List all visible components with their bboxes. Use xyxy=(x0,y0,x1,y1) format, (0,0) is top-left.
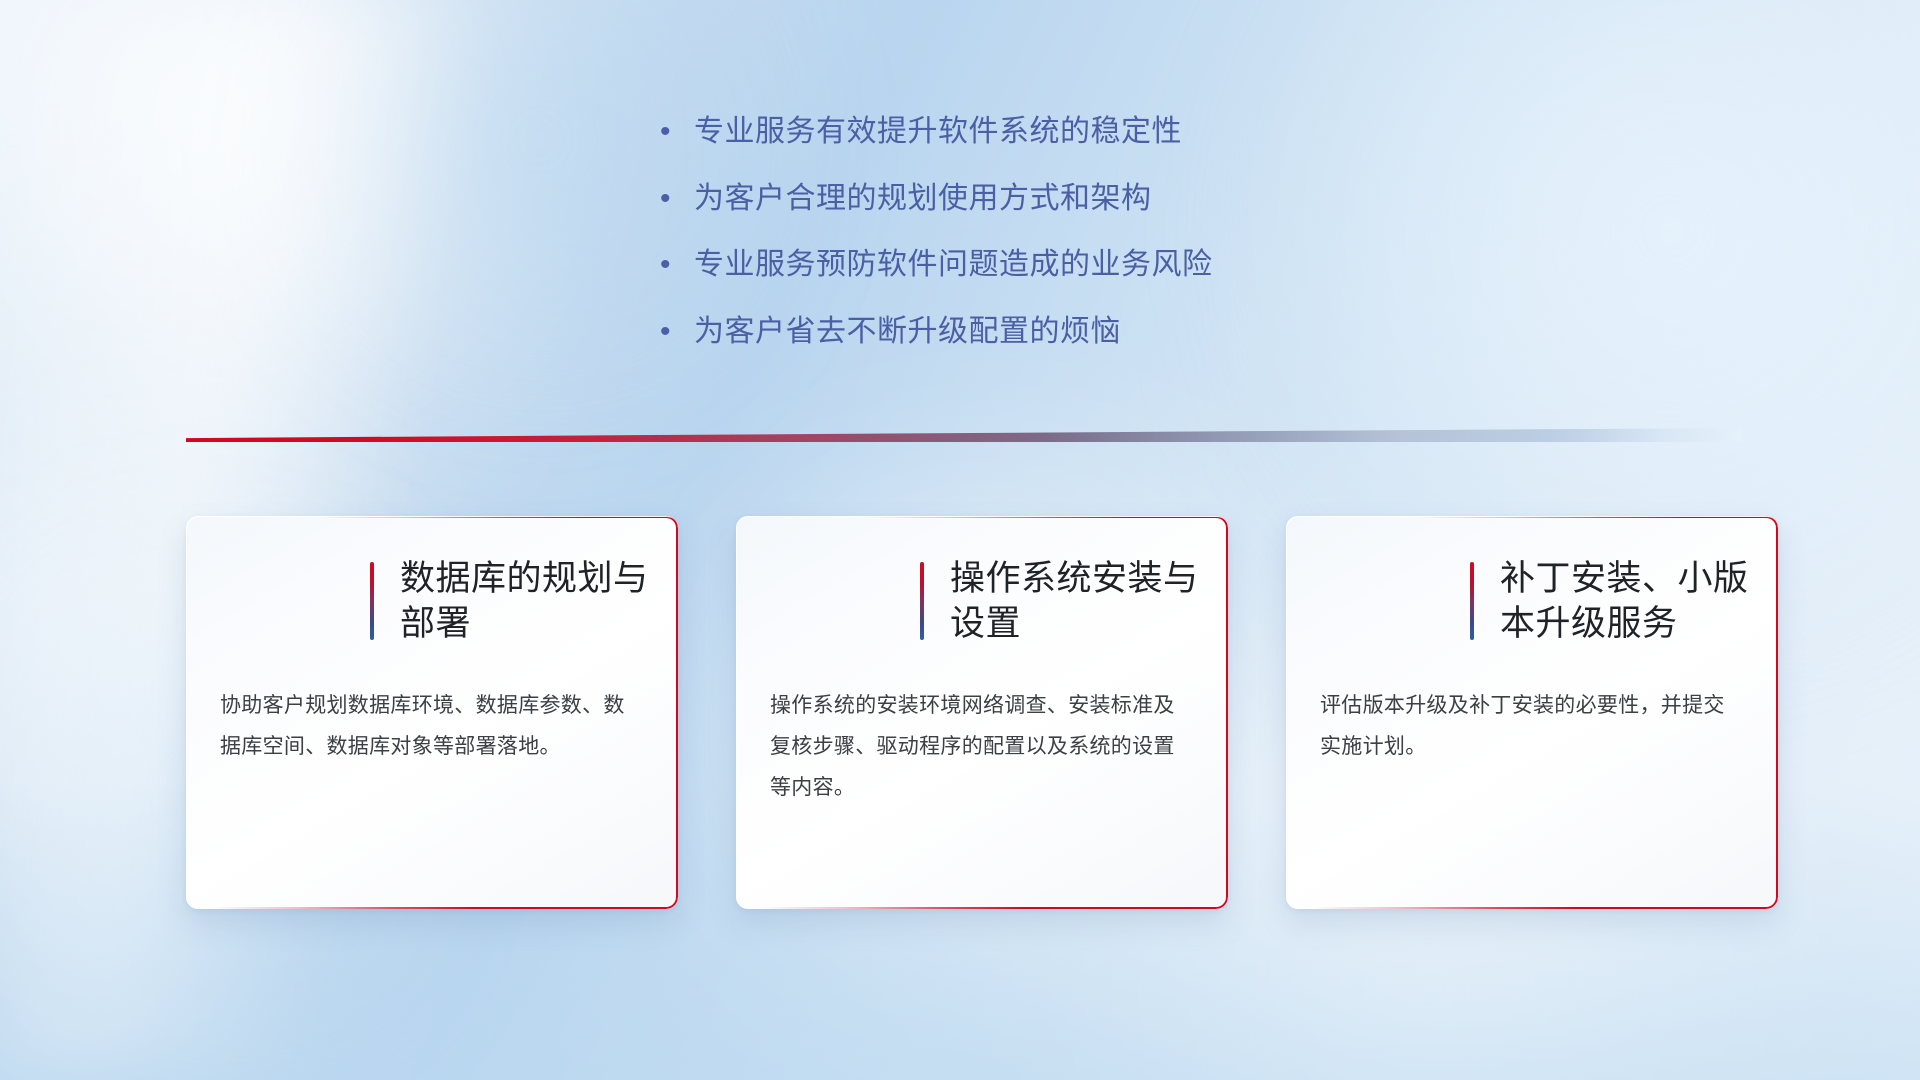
card-number-label: 01 xyxy=(212,549,339,653)
card-description: 操作系统的安装环境网络调查、安装标准及复核步骤、驱动程序的配置以及系统的设置等内… xyxy=(736,686,1228,809)
bullet-dot-icon: • xyxy=(660,245,694,285)
card-header: 01 数据库的规划与部署 xyxy=(186,516,678,686)
card-title: 补丁安装、小版本升级服务 xyxy=(1500,556,1778,647)
bullet-dot-icon: • xyxy=(660,179,694,219)
section-divider xyxy=(186,428,1742,442)
card-accent-bar xyxy=(370,562,374,640)
card-header: 03 补丁安装、小版本升级服务 xyxy=(1286,516,1778,686)
card-title: 数据库的规划与部署 xyxy=(400,556,678,647)
card-number-watermark: 03 xyxy=(1316,549,1466,653)
card-number-watermark: 01 xyxy=(216,549,366,653)
list-item-label: 专业服务有效提升软件系统的稳定性 xyxy=(694,112,1420,152)
card-accent-bar xyxy=(920,562,924,640)
list-item-label: 为客户省去不断升级配置的烦恼 xyxy=(694,312,1420,352)
list-item-label: 专业服务预防软件问题造成的业务风险 xyxy=(694,245,1420,285)
service-card-01[interactable]: 01 数据库的规划与部署 协助客户规划数据库环境、数据库参数、数据库空间、数据库… xyxy=(186,516,678,909)
divider-sheen xyxy=(186,428,1742,442)
card-accent-bar xyxy=(1470,562,1474,640)
bullet-dot-icon: • xyxy=(660,312,694,352)
list-item: • 为客户省去不断升级配置的烦恼 xyxy=(660,312,1420,352)
list-item: • 专业服务预防软件问题造成的业务风险 xyxy=(660,245,1420,285)
card-description: 协助客户规划数据库环境、数据库参数、数据库空间、数据库对象等部署落地。 xyxy=(186,686,678,768)
service-card-list: 01 数据库的规划与部署 协助客户规划数据库环境、数据库参数、数据库空间、数据库… xyxy=(186,516,1778,909)
card-number-label: 03 xyxy=(1312,549,1439,653)
card-header: 02 操作系统安装与设置 xyxy=(736,516,1228,686)
card-number-watermark: 02 xyxy=(766,549,916,653)
list-item-label: 为客户合理的规划使用方式和架构 xyxy=(694,179,1420,219)
bullet-dot-icon: • xyxy=(660,112,694,152)
list-item: • 为客户合理的规划使用方式和架构 xyxy=(660,179,1420,219)
card-title: 操作系统安装与设置 xyxy=(950,556,1228,647)
list-item: • 专业服务有效提升软件系统的稳定性 xyxy=(660,112,1420,152)
card-description: 评估版本升级及补丁安装的必要性，并提交实施计划。 xyxy=(1286,686,1778,768)
card-number-label: 02 xyxy=(762,549,889,653)
service-card-02[interactable]: 02 操作系统安装与设置 操作系统的安装环境网络调查、安装标准及复核步骤、驱动程… xyxy=(736,516,1228,909)
service-card-03[interactable]: 03 补丁安装、小版本升级服务 评估版本升级及补丁安装的必要性，并提交实施计划。 xyxy=(1286,516,1778,909)
benefits-bullet-list: • 专业服务有效提升软件系统的稳定性 • 为客户合理的规划使用方式和架构 • 专… xyxy=(660,112,1420,378)
